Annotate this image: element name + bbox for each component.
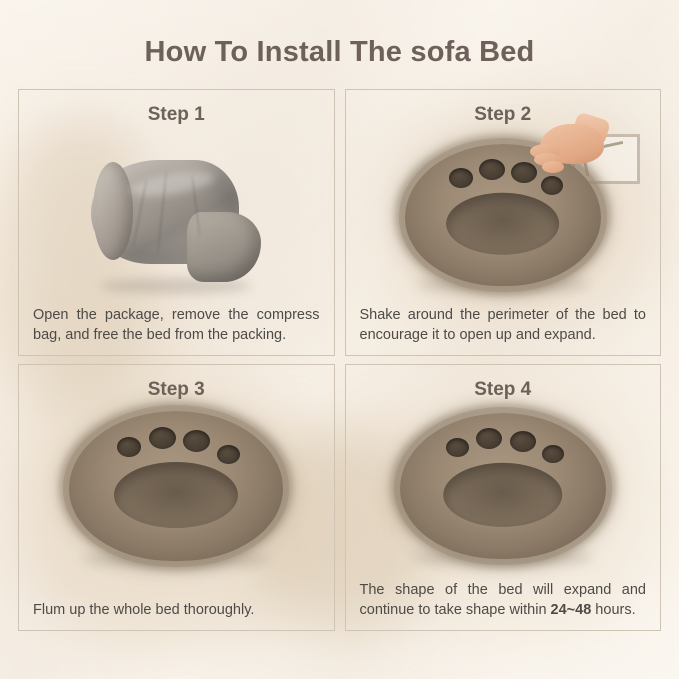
step-1-heading: Step 1 [33,104,320,126]
step-card-2: Step 2 [345,89,662,356]
paw-bed-icon [69,411,283,561]
page-title: How To Install The sofa Bed [0,0,679,69]
compressed-bag-icon [91,156,261,286]
step-card-3: Step 3 Flum up the whole bed thoroughly. [18,364,335,631]
step-3-image [33,403,320,601]
step-1-image [33,128,320,306]
step-2-image [360,128,647,306]
step-4-caption-highlight: 24~48 [551,602,592,618]
step-1-caption: Open the package, remove the compress ba… [33,306,320,345]
step-4-heading: Step 4 [360,379,647,401]
step-card-1: Step 1 Open the package, remove the comp… [18,89,335,356]
step-4-caption-after: hours. [591,602,635,618]
infographic-page: How To Install The sofa Bed Step 1 Open … [0,0,679,679]
step-4-caption: The shape of the bed will expand and con… [360,581,647,620]
step-2-caption: Shake around the perimeter of the bed to… [360,306,647,345]
paw-bed-icon [400,413,606,559]
step-3-heading: Step 3 [33,379,320,401]
step-3-caption: Flum up the whole bed thoroughly. [33,601,320,620]
step-card-4: Step 4 The shape of the bed will expand … [345,364,662,631]
steps-grid: Step 1 Open the package, remove the comp… [18,89,661,631]
hand-icon [530,124,604,186]
step-4-image [360,403,647,581]
